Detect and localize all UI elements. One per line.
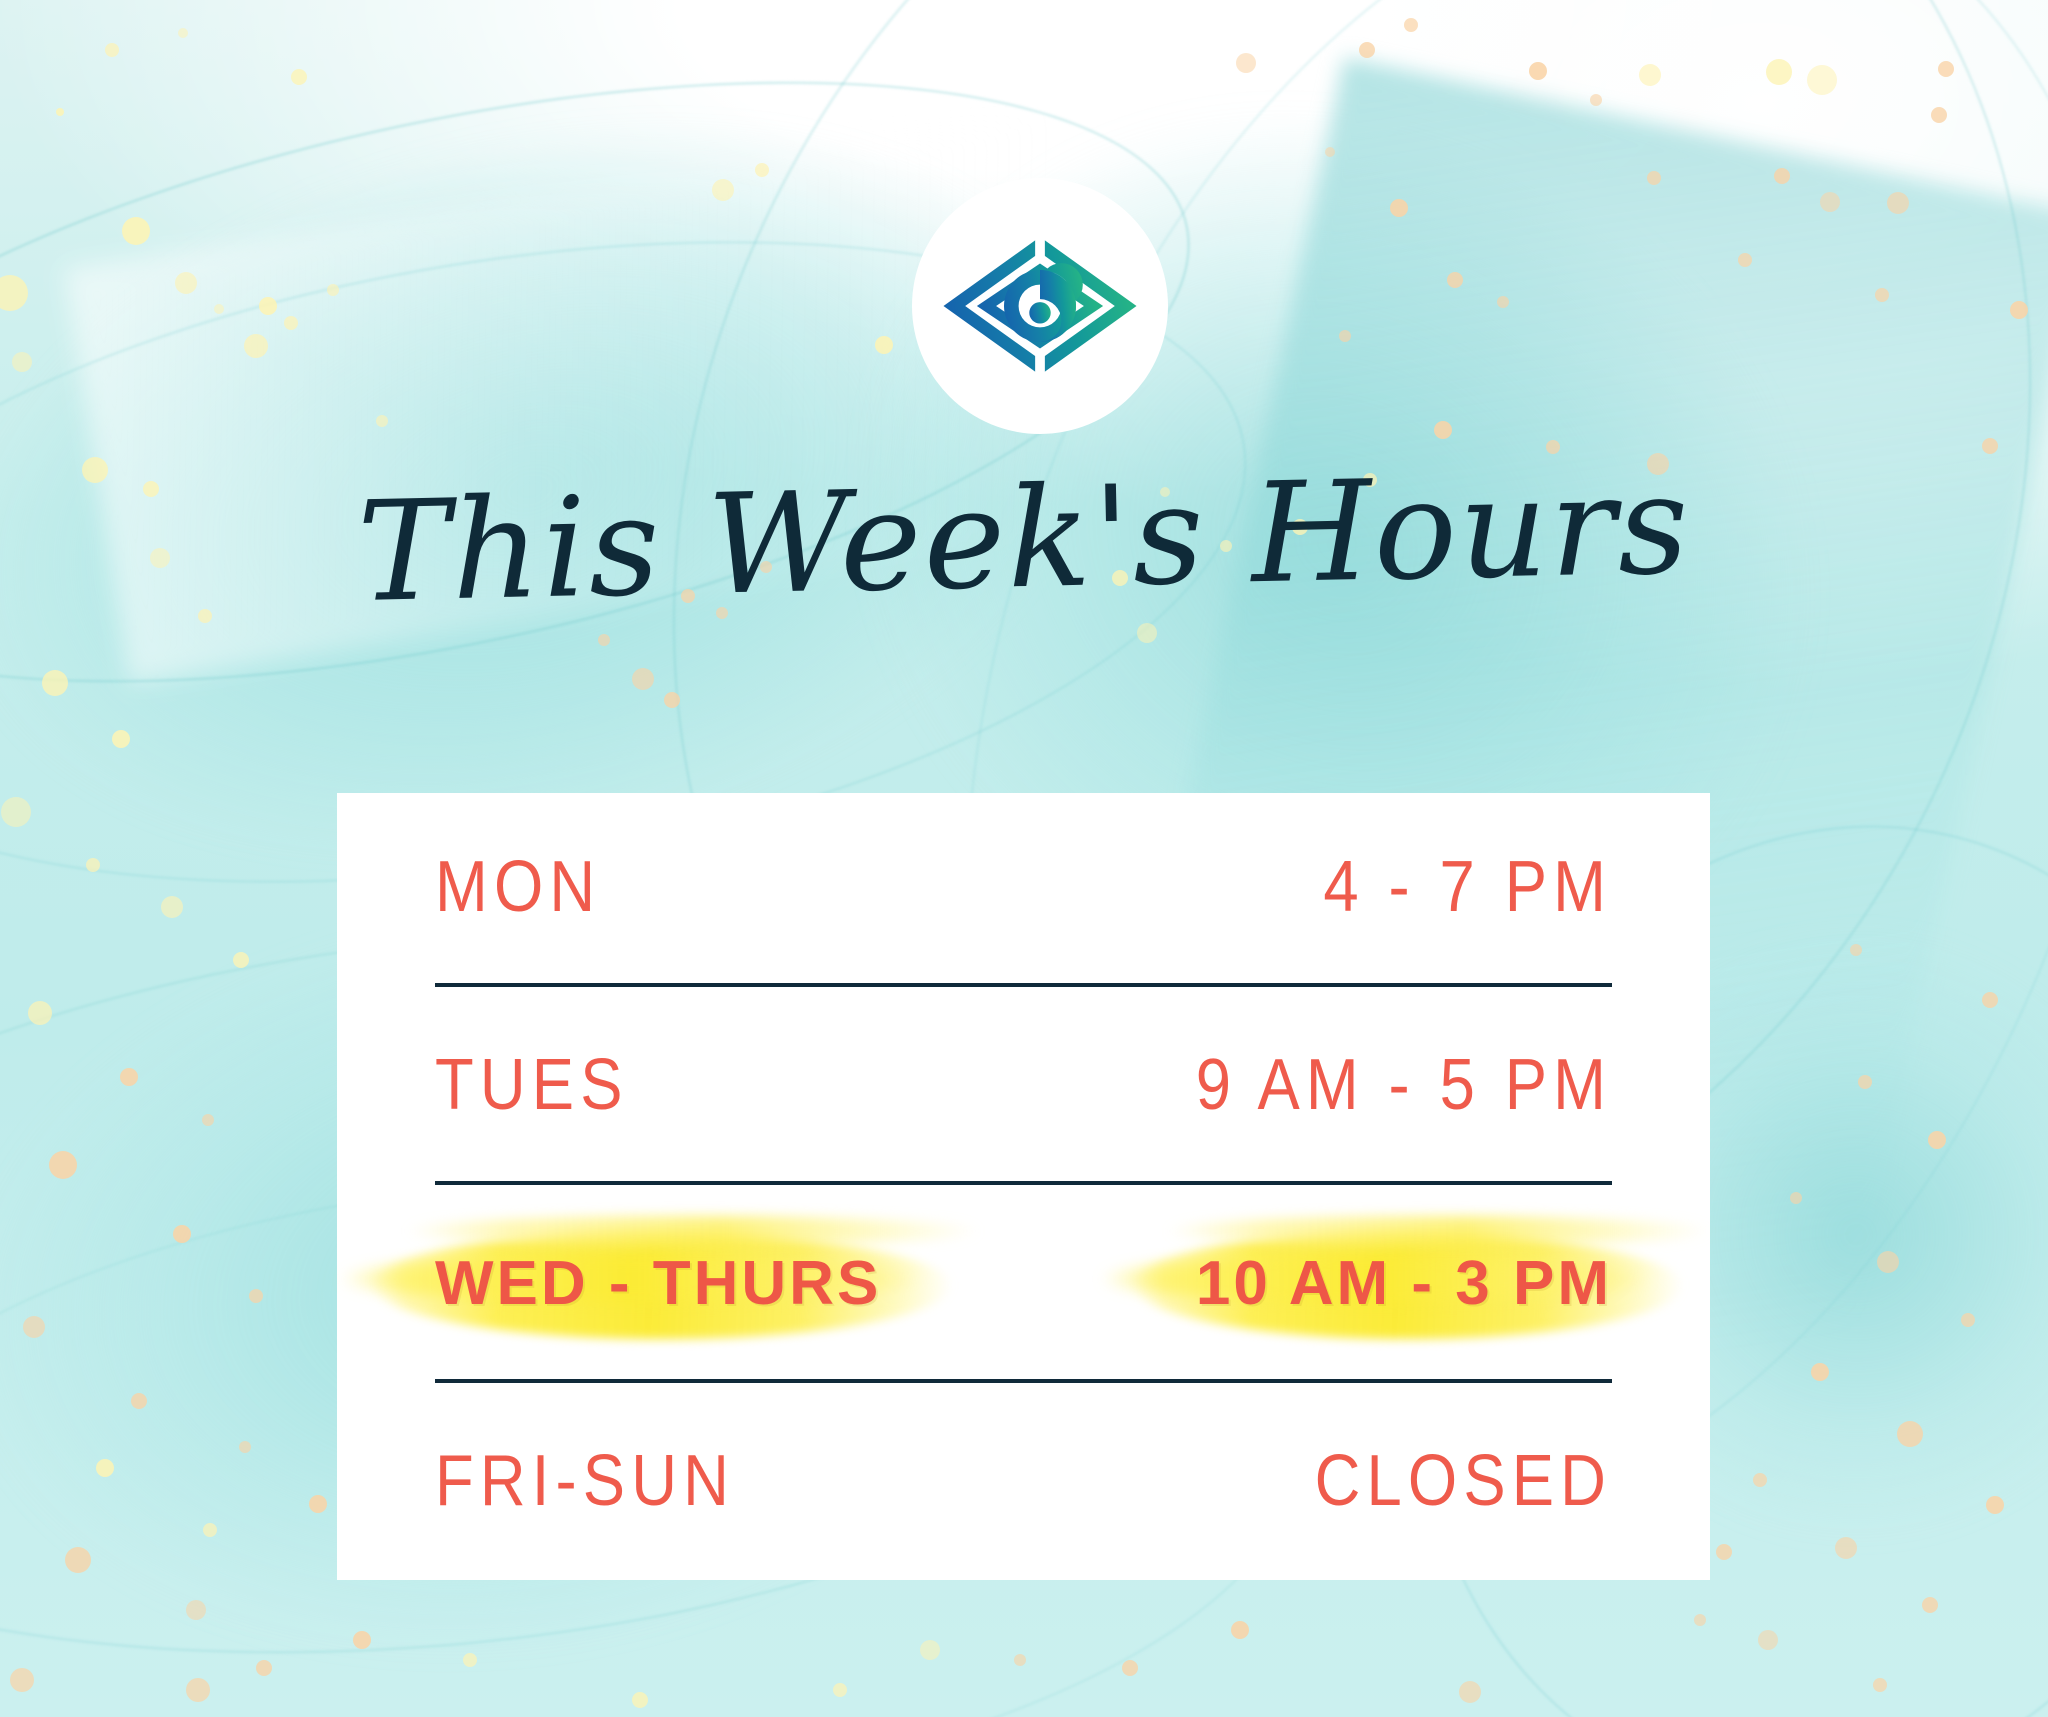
ink-speck	[86, 858, 100, 872]
ink-speck	[65, 1547, 91, 1573]
ink-speck	[82, 457, 108, 483]
ink-speck	[10, 1668, 34, 1692]
ink-speck	[112, 730, 130, 748]
ink-speck	[1982, 992, 1998, 1008]
ink-speck	[1497, 296, 1509, 308]
ink-speck	[376, 415, 388, 427]
schedule-card: MON 4 - 7 PM TUES 9 AM - 5 PM WED - THUR…	[337, 793, 1710, 1580]
ink-speck	[1359, 42, 1375, 58]
ink-speck	[1753, 1473, 1767, 1487]
ink-speck	[1790, 1192, 1802, 1204]
ink-speck	[1835, 1537, 1857, 1559]
ink-speck	[1716, 1544, 1732, 1560]
ink-speck	[1820, 192, 1840, 212]
hours-value: 10 AM - 3 PM	[1196, 1249, 1612, 1318]
ink-speck	[1236, 53, 1256, 73]
row-divider	[435, 983, 1612, 987]
ink-speck	[1122, 1660, 1138, 1676]
ink-speck	[1850, 944, 1862, 956]
row-divider	[435, 1379, 1612, 1383]
row-divider	[435, 1181, 1612, 1185]
ink-speck	[178, 28, 188, 38]
ink-speck	[1931, 107, 1947, 123]
ink-speck	[244, 334, 268, 358]
ink-speck	[233, 952, 249, 968]
ink-speck	[712, 179, 734, 201]
ink-speck	[105, 43, 119, 57]
ink-speck	[1961, 1313, 1975, 1327]
ink-speck	[1738, 253, 1752, 267]
ink-speck	[1390, 199, 1408, 217]
ink-speck	[42, 670, 68, 696]
ink-speck	[1986, 1496, 2004, 1514]
ink-speck	[131, 1393, 147, 1409]
day-label: TUES	[435, 1044, 629, 1126]
page-title: This Week's Hours	[0, 449, 2048, 630]
hours-value: 4 - 7 PM	[1323, 846, 1612, 928]
ink-speck	[49, 1151, 77, 1179]
ink-speck	[256, 1660, 272, 1676]
ink-speck	[2010, 301, 2028, 319]
schedule-row-fri-sun: FRI-SUN CLOSED	[337, 1422, 1710, 1540]
ink-speck	[249, 1289, 263, 1303]
ink-speck	[1928, 1131, 1946, 1149]
ink-speck	[920, 1640, 940, 1660]
ink-speck	[1434, 421, 1452, 439]
ink-speck	[1325, 147, 1335, 157]
ink-speck	[1, 797, 31, 827]
ink-speck	[0, 275, 28, 311]
ink-speck	[1873, 1678, 1887, 1692]
schedule-row-tues: TUES 9 AM - 5 PM	[337, 1026, 1710, 1144]
schedule-row-wed-thurs: WED - THURS 10 AM - 3 PM	[337, 1224, 1710, 1342]
hours-value: CLOSED	[1314, 1440, 1612, 1522]
schedule-row-mon: MON 4 - 7 PM	[337, 828, 1710, 946]
day-highlight-group: WED - THURS	[435, 1248, 881, 1319]
highlighter-stroke-upper	[405, 1216, 981, 1246]
ink-speck	[1590, 94, 1602, 106]
ink-speck	[284, 316, 298, 330]
ink-speck	[186, 1678, 210, 1702]
ink-speck	[1811, 1363, 1829, 1381]
ink-speck	[1137, 623, 1157, 643]
ink-speck	[1694, 1614, 1706, 1626]
ink-speck	[1639, 64, 1661, 86]
ink-speck	[664, 692, 680, 708]
eye-spiral-logo-icon	[942, 233, 1138, 379]
ink-speck	[291, 69, 307, 85]
ink-speck	[122, 217, 150, 245]
highlighter-stroke-upper	[1166, 1216, 1712, 1246]
ink-speck	[1766, 59, 1792, 85]
ink-speck	[203, 1523, 217, 1537]
ink-speck	[833, 1683, 847, 1697]
ink-speck	[259, 297, 277, 315]
ink-speck	[1922, 1597, 1938, 1613]
ink-speck	[161, 896, 183, 918]
ink-speck	[1529, 62, 1547, 80]
ink-speck	[28, 1001, 52, 1025]
ink-speck	[96, 1459, 114, 1477]
ink-speck	[175, 272, 197, 294]
hours-highlight-group: 10 AM - 3 PM	[1196, 1248, 1612, 1319]
hours-value: 9 AM - 5 PM	[1196, 1044, 1612, 1126]
day-label: MON	[435, 846, 601, 928]
ink-speck	[23, 1316, 45, 1338]
ink-speck	[1014, 1654, 1026, 1666]
day-label: WED - THURS	[435, 1249, 881, 1318]
ink-speck	[1875, 288, 1889, 302]
ink-speck	[463, 1653, 477, 1667]
ink-speck	[1231, 1621, 1249, 1639]
ink-speck	[1897, 1421, 1923, 1447]
ink-speck	[239, 1441, 251, 1453]
ink-speck	[1938, 61, 1954, 77]
ink-speck	[120, 1068, 138, 1086]
ink-speck	[598, 634, 610, 646]
ink-speck	[1758, 1630, 1778, 1650]
ink-speck	[1807, 65, 1837, 95]
ink-speck	[1858, 1075, 1872, 1089]
ink-speck	[1447, 272, 1463, 288]
ink-speck	[1647, 171, 1661, 185]
ink-speck	[12, 352, 32, 372]
ink-speck	[309, 1495, 327, 1513]
ink-speck	[327, 284, 339, 296]
logo-badge	[912, 178, 1168, 434]
ink-speck	[186, 1600, 206, 1620]
ink-speck	[202, 1114, 214, 1126]
ink-speck	[1877, 1251, 1899, 1273]
ink-speck	[1339, 330, 1351, 342]
poster-canvas: This Week's Hours MON 4 - 7 PM TUES 9 AM…	[0, 0, 2048, 1717]
ink-speck	[173, 1225, 191, 1243]
ink-speck	[1774, 168, 1790, 184]
ink-speck	[875, 336, 893, 354]
day-label: FRI-SUN	[435, 1440, 735, 1522]
ink-speck	[1404, 18, 1418, 32]
ink-speck	[1459, 1681, 1481, 1703]
ink-speck	[632, 668, 654, 690]
ink-speck	[1887, 192, 1909, 214]
ink-speck	[353, 1631, 371, 1649]
ink-speck	[755, 163, 769, 177]
ink-speck	[632, 1692, 648, 1708]
ink-speck	[214, 304, 224, 314]
ink-speck	[56, 108, 64, 116]
